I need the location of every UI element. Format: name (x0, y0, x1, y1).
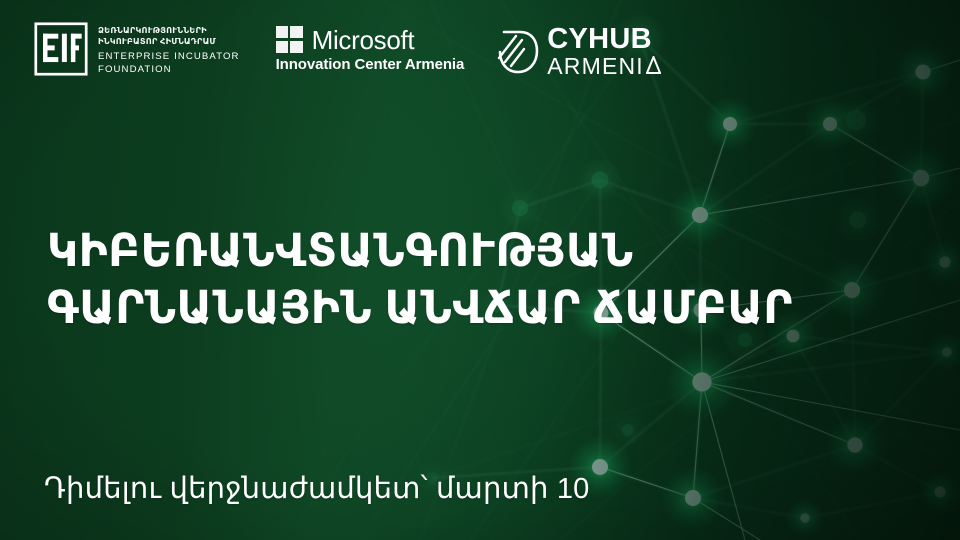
cyhub-delta-a-icon (646, 56, 661, 74)
eif-english-line1: ENTERPRISE INCUBATOR (98, 50, 240, 63)
eif-logo-text: ՁԵՌՆԱՐԿՈՒԹՅՈՒՆՆԵՐԻ ԻՆԿՈՒԲԱՏՈՐ ՀԻՄՆԱԴՐԱՄ … (98, 23, 240, 76)
eif-armenian-line1: ՁԵՌՆԱՐԿՈՒԹՅՈՒՆՆԵՐԻ (98, 25, 240, 36)
microsoft-logo: Microsoft Innovation Center Armenia (276, 22, 465, 74)
microsoft-subtitle: Innovation Center Armenia (276, 56, 465, 74)
eif-mark-icon (34, 22, 88, 76)
cybersecurity-camp-poster: ՁԵՌՆԱՐԿՈՒԹՅՈՒՆՆԵՐԻ ԻՆԿՈՒԲԱՏՈՐ ՀԻՄՆԱԴՐԱՄ … (0, 0, 960, 540)
cyhub-line2-row: ARMENI (547, 54, 661, 78)
microsoft-wordmark-row: Microsoft (276, 26, 465, 53)
eif-logo: ՁԵՌՆԱՐԿՈՒԹՅՈՒՆՆԵՐԻ ԻՆԿՈՒԲԱՏՈՐ ՀԻՄՆԱԴՐԱՄ … (34, 22, 240, 76)
eif-english-line2: FOUNDATION (98, 63, 240, 76)
sponsor-logo-bar: ՁԵՌՆԱՐԿՈՒԹՅՈՒՆՆԵՐԻ ԻՆԿՈՒԲԱՏՈՐ ՀԻՄՆԱԴՐԱՄ … (34, 22, 661, 78)
cyhub-line2: ARMENI (547, 54, 644, 78)
headline-line-2: ԳԱՐՆԱՆԱՅԻՆ ԱՆՎՃԱՐ ՃԱՄԲԱՐ (47, 279, 793, 336)
cyhub-shield-icon (494, 27, 540, 77)
cyhub-logo: CYHUB ARMENI (494, 22, 661, 78)
eif-armenian-line2: ԻՆԿՈՒԲԱՏՈՐ ՀԻՄՆԱԴՐԱՄ (98, 36, 240, 47)
microsoft-wordmark: Microsoft (312, 27, 415, 53)
microsoft-squares-icon (276, 26, 303, 53)
cyhub-line1: CYHUB (547, 25, 661, 53)
headline-block: ԿԻԲԵՌԱՆՎՏԱՆԳՈՒԹՅԱՆ ԳԱՐՆԱՆԱՅԻՆ ԱՆՎՃԱՐ ՃԱՄ… (47, 222, 816, 336)
headline-line-1: ԿԻԲԵՌԱՆՎՏԱՆԳՈՒԹՅԱՆ (47, 222, 793, 279)
cyhub-wordmark: CYHUB ARMENI (547, 25, 661, 78)
application-deadline-text: Դիմելու վերջնաժամկետ՝ մարտի 10 (44, 472, 590, 506)
